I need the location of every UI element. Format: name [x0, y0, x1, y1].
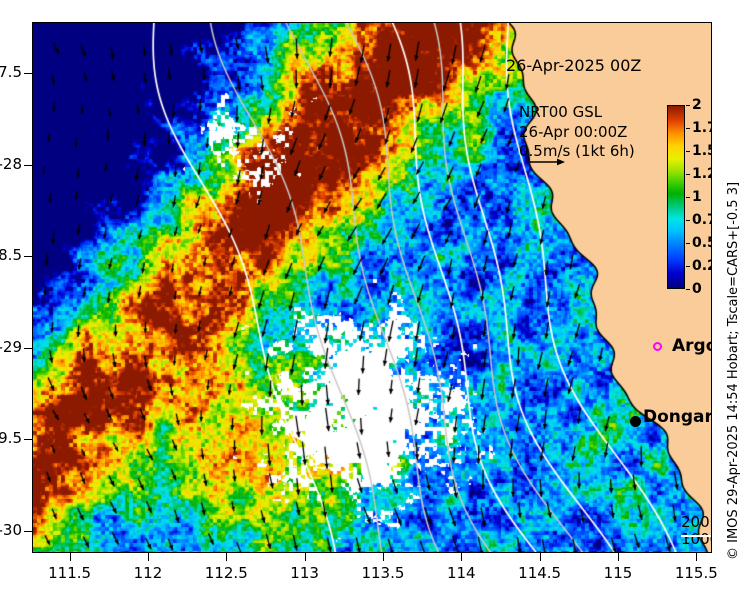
colorbar-tick-label: 2	[692, 98, 702, 112]
y-tick-mark	[24, 348, 32, 349]
y-tick-label: -27.5	[0, 65, 22, 80]
colorbar-tick-mark	[686, 105, 690, 106]
x-tick-mark	[540, 553, 541, 561]
y-tick-label: -30	[0, 523, 22, 538]
colorbar-tick-label: 0.5	[692, 236, 712, 250]
y-tick-mark	[24, 165, 32, 166]
colorbar: 21.751.51.2510.750.50.250	[667, 105, 685, 289]
argo-legend-label: Argo	[672, 336, 712, 356]
colorbar-tick-label: 1.25	[692, 167, 712, 181]
x-tick-mark	[305, 553, 306, 561]
colorbar-tick-mark	[686, 197, 690, 198]
reference-arrow-icon	[529, 156, 565, 168]
current-source-label: NRT00 GSL	[519, 103, 635, 123]
argo-legend-entry: Argo	[653, 336, 712, 356]
sst-age-map-figure: 26-Apr-2025 00Z NRT00 GSL 26-Apr 00:00Z …	[0, 0, 740, 592]
colorbar-tick-label: 1	[692, 190, 702, 204]
dongara-place-marker: Dongara	[621, 407, 712, 427]
x-tick-label: 115.5	[661, 566, 731, 581]
colorbar-tick-label: 0.25	[692, 259, 712, 273]
x-tick-label: 111.5	[35, 566, 105, 581]
x-tick-label: 112.5	[191, 566, 261, 581]
x-tick-mark	[70, 553, 71, 561]
colorbar-tick-mark	[686, 128, 690, 129]
x-tick-mark	[618, 553, 619, 561]
x-tick-mark	[383, 553, 384, 561]
argo-marker-icon	[653, 342, 662, 351]
y-tick-mark	[24, 256, 32, 257]
colorbar-tick-mark	[686, 289, 690, 290]
colorbar-tick-mark	[686, 266, 690, 267]
y-tick-mark	[24, 439, 32, 440]
x-tick-mark	[226, 553, 227, 561]
depth-200m-line-swatch	[681, 535, 712, 537]
current-time-label: 26-Apr 00:00Z	[519, 123, 635, 143]
current-vector-key: NRT00 GSL 26-Apr 00:00Z 0.5m/s (1kt 6h)	[519, 103, 635, 162]
x-tick-mark	[148, 553, 149, 561]
x-tick-label: 113	[270, 566, 340, 581]
y-tick-mark	[24, 73, 32, 74]
x-tick-label: 114	[426, 566, 496, 581]
map-plot-area[interactable]: 26-Apr-2025 00Z NRT00 GSL 26-Apr 00:00Z …	[32, 22, 712, 553]
y-tick-label: -29	[0, 340, 22, 355]
colorbar-gradient	[667, 105, 685, 289]
colorbar-tick-mark	[686, 174, 690, 175]
colorbar-tick-mark	[686, 220, 690, 221]
colorbar-tick-mark	[686, 243, 690, 244]
y-tick-label: -28	[0, 157, 22, 172]
colorbar-tick-label: 0	[692, 282, 702, 296]
dongara-label: Dongara	[643, 407, 712, 427]
colorbar-tick-label: 1.5	[692, 144, 712, 158]
x-tick-label: 113.5	[348, 566, 418, 581]
x-tick-mark	[461, 553, 462, 561]
x-tick-mark	[696, 553, 697, 561]
depth-contour-legend: 200m 1000m	[681, 514, 712, 549]
x-tick-label: 114.5	[505, 566, 575, 581]
colorbar-tick-label: 0.75	[692, 213, 712, 227]
depth-1000m-label: 1000m	[681, 531, 712, 548]
x-tick-label: 115	[583, 566, 653, 581]
dongara-marker-icon	[630, 416, 641, 427]
colorbar-tick-label: 1.75	[692, 121, 712, 135]
colorbar-tick-mark	[686, 151, 690, 152]
y-tick-label: -29.5	[0, 431, 22, 446]
depth-200m-label: 200m	[681, 514, 712, 531]
datestamp-label: 26-Apr-2025 00Z	[506, 56, 641, 77]
y-tick-label: -28.5	[0, 248, 22, 263]
copyright-label: © IMOS 29-Apr-2025 14:54 Hobart; Tscale=…	[726, 182, 740, 560]
y-tick-mark	[24, 531, 32, 532]
x-tick-label: 112	[113, 566, 183, 581]
